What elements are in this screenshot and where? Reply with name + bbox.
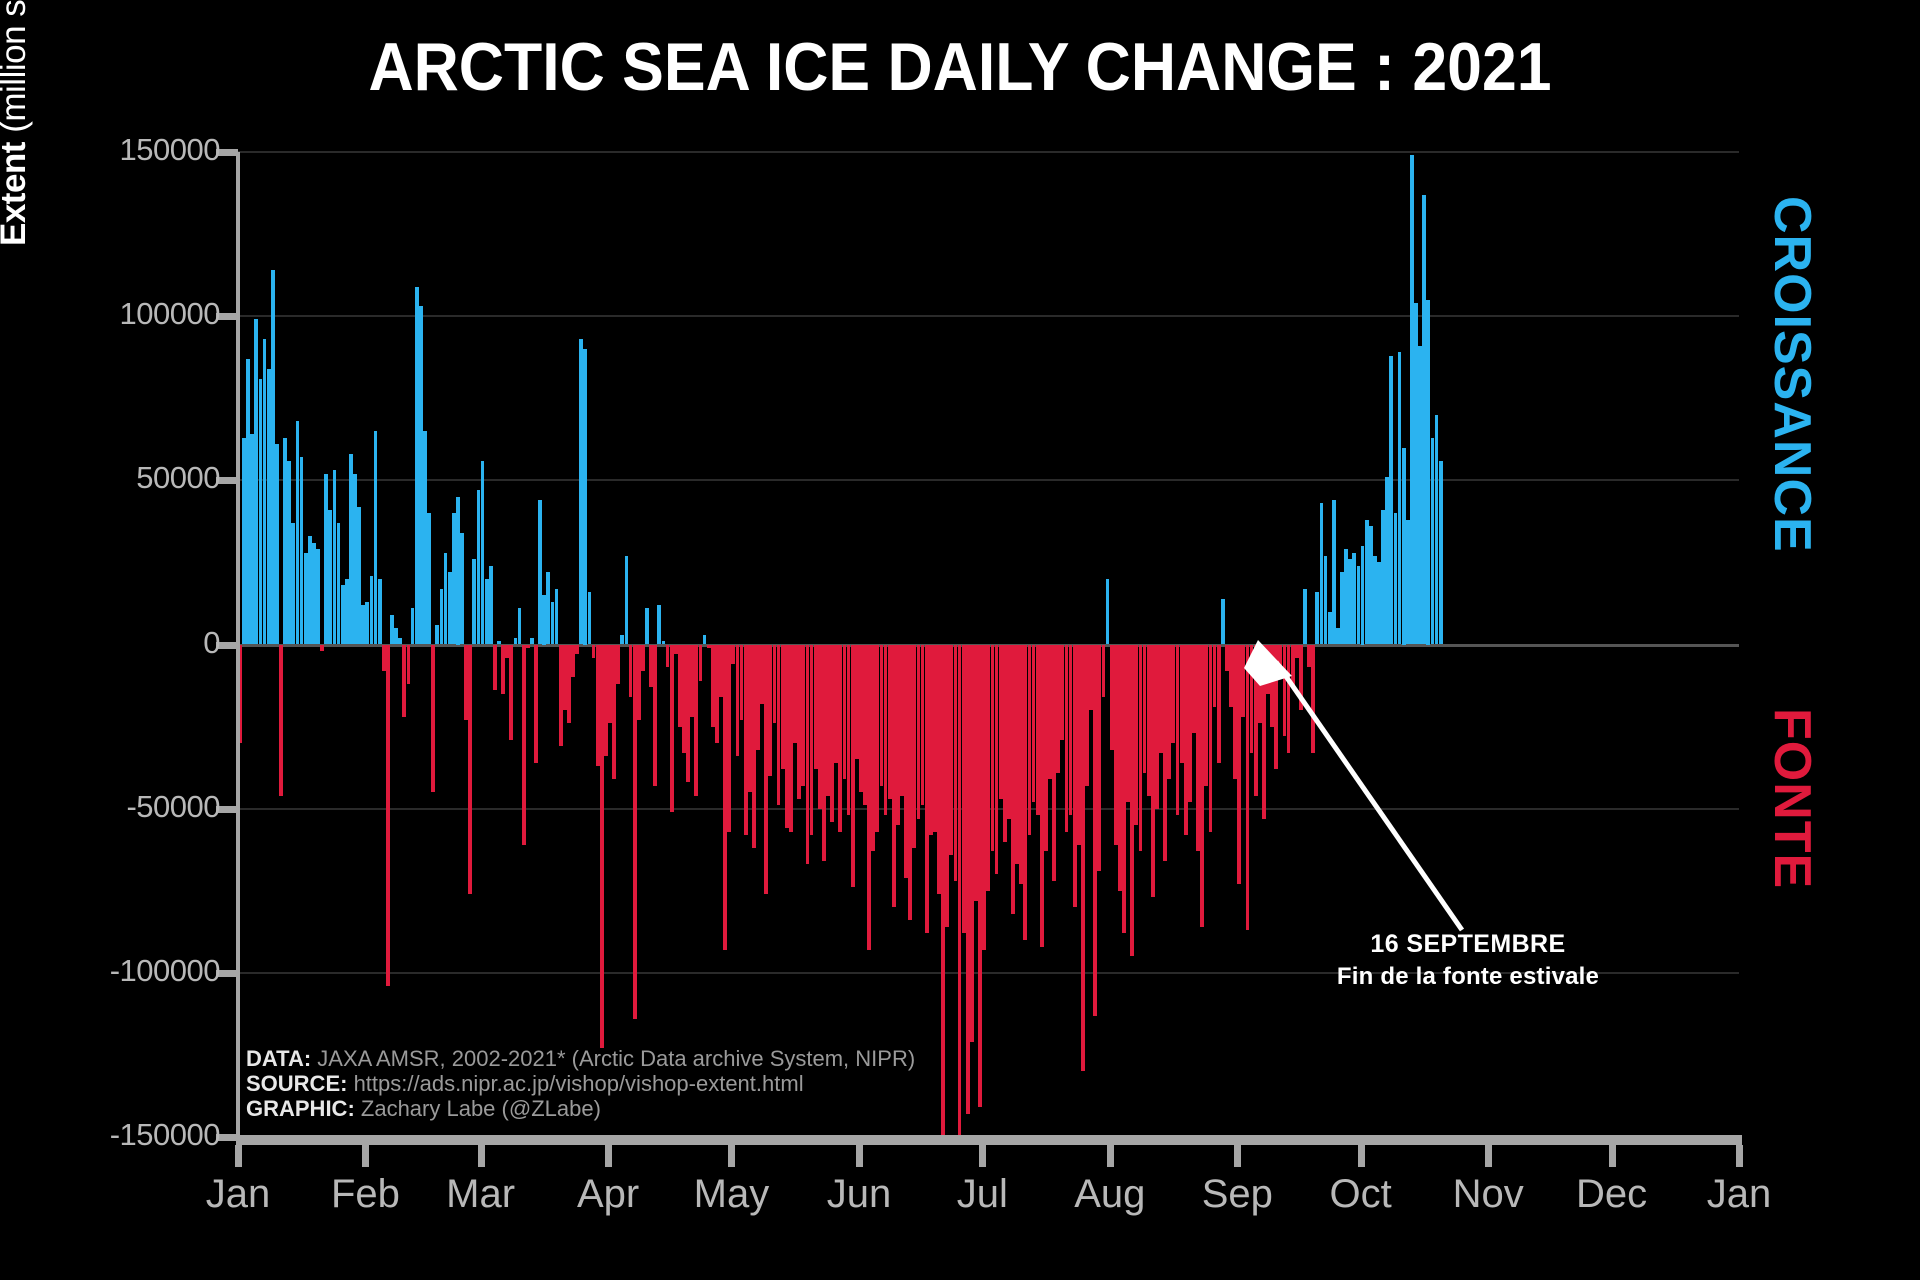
attribution-source-value: https://ads.nipr.ac.jp/vishop/vishop-ext… — [347, 1071, 803, 1096]
bar — [645, 608, 649, 644]
attribution-data-value: JAXA AMSR, 2002-2021* (Arctic Data archi… — [311, 1046, 915, 1071]
x-tick — [478, 1145, 485, 1167]
annotation-line-1: 16 SEPTEMBRE — [1318, 930, 1618, 959]
y-tick-label: 100000 — [0, 296, 220, 332]
x-tick — [362, 1145, 369, 1167]
y-tick-label: -50000 — [0, 789, 220, 825]
x-axis-line — [236, 1135, 1742, 1145]
x-tick — [605, 1145, 612, 1167]
annotation-arrow-icon — [1240, 640, 1500, 940]
bar — [320, 645, 324, 652]
x-tick — [235, 1145, 242, 1167]
bar — [699, 645, 703, 681]
x-tick-label: Jan — [1659, 1172, 1819, 1217]
y-axis-title-light: (million square kilometers) — [0, 0, 33, 133]
attribution-source-key: SOURCE: — [246, 1071, 347, 1096]
x-tick — [728, 1145, 735, 1167]
annotation-line-2: Fin de la fonte estivale — [1318, 963, 1618, 991]
page-title: ARCTIC SEA ICE DAILY CHANGE : 2021 — [77, 28, 1843, 106]
annotation-label: 16 SEPTEMBRE Fin de la fonte estivale — [1318, 930, 1618, 991]
y-tick-label: -150000 — [0, 1117, 220, 1153]
bar — [1303, 589, 1307, 645]
bar — [1439, 461, 1443, 645]
x-tick — [979, 1145, 986, 1167]
attribution-data: DATA: JAXA AMSR, 2002-2021* (Arctic Data… — [246, 1046, 915, 1071]
bar — [588, 592, 592, 645]
bar — [398, 638, 402, 645]
bar — [526, 645, 530, 648]
bar — [431, 645, 435, 793]
y-tick-label: -100000 — [0, 953, 220, 989]
attribution-block: DATA: JAXA AMSR, 2002-2021* (Arctic Data… — [246, 1046, 915, 1121]
attribution-graphic-key: GRAPHIC: — [246, 1096, 355, 1121]
attribution-data-key: DATA: — [246, 1046, 311, 1071]
y-tick-label: 0 — [0, 625, 220, 661]
bar — [1217, 645, 1221, 763]
y-axis-title: Extent (million square kilometers) — [0, 0, 34, 246]
bar — [1102, 645, 1106, 698]
bar — [530, 638, 534, 645]
bar — [386, 645, 390, 986]
x-tick — [1736, 1145, 1743, 1167]
bar — [703, 635, 707, 645]
x-tick — [1107, 1145, 1114, 1167]
x-tick — [1485, 1145, 1492, 1167]
bar — [616, 645, 620, 684]
bar — [316, 549, 320, 644]
bar — [575, 645, 579, 655]
attribution-graphic-value: Zachary Labe (@ZLabe) — [355, 1096, 601, 1121]
bar — [275, 444, 279, 644]
bar — [534, 645, 538, 763]
bar — [518, 608, 522, 644]
side-label-growth: CROISSANCE — [1762, 196, 1822, 553]
bar — [489, 566, 493, 645]
attribution-source: SOURCE: https://ads.nipr.ac.jp/vishop/vi… — [246, 1071, 915, 1096]
bar — [641, 645, 645, 671]
x-tick — [856, 1145, 863, 1167]
bar — [522, 645, 526, 845]
bar — [509, 645, 513, 740]
bar — [555, 589, 559, 645]
bar — [1332, 500, 1336, 644]
y-tick-label: 50000 — [0, 460, 220, 496]
y-tick-label: 150000 — [0, 132, 220, 168]
bar — [407, 645, 411, 684]
bar — [657, 605, 661, 644]
bar — [1221, 599, 1225, 645]
bar — [1106, 579, 1110, 645]
x-tick — [1358, 1145, 1365, 1167]
x-tick — [1234, 1145, 1241, 1167]
bar — [670, 645, 674, 812]
bar — [727, 645, 731, 832]
bar — [378, 579, 382, 645]
bar — [427, 513, 431, 644]
bar — [493, 645, 497, 691]
attribution-graphic: GRAPHIC: Zachary Labe (@ZLabe) — [246, 1096, 915, 1121]
x-tick — [1609, 1145, 1616, 1167]
bar — [460, 533, 464, 645]
bar — [625, 556, 629, 645]
bar — [279, 645, 283, 796]
bar — [653, 645, 657, 786]
side-label-melt: FONTE — [1762, 708, 1822, 889]
bar — [468, 645, 472, 895]
